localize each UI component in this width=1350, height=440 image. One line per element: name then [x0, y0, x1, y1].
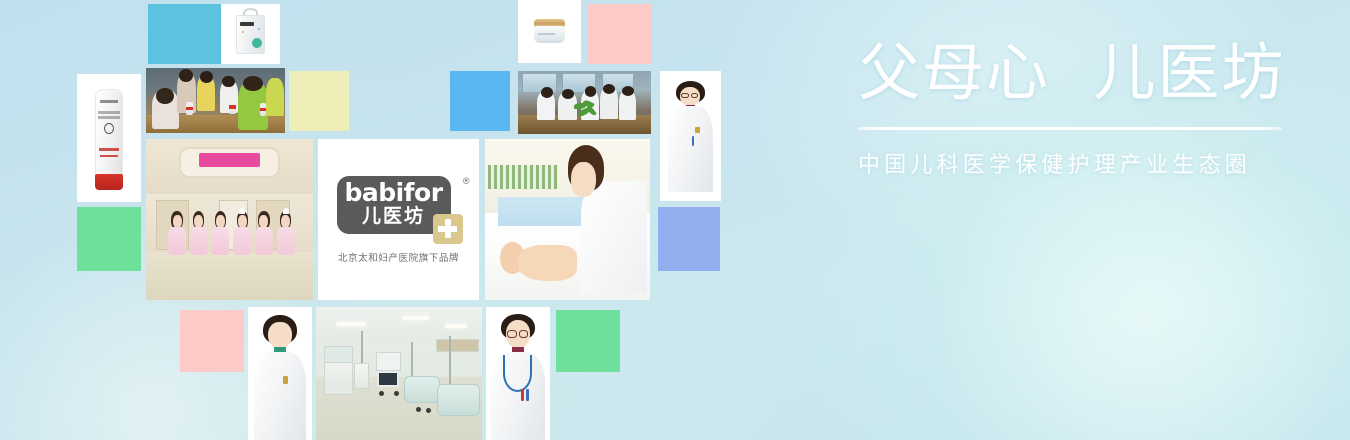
- headline-block: 父母心 儿医坊 中国儿科医学保健护理产业生态圈: [858, 42, 1298, 179]
- photo-baby-bath-care: [485, 139, 650, 300]
- hero-banner: babifor 儿医坊 ® 北京太和妇产医院旗下品牌: [0, 0, 1350, 440]
- photo-nicu-ward: [316, 307, 482, 440]
- logo-tile-babifor: babifor 儿医坊 ® 北京太和妇产医院旗下品牌: [318, 139, 479, 300]
- color-swatch-green-right: [556, 310, 620, 372]
- title-divider: [858, 127, 1282, 130]
- babifor-logo-mark: babifor 儿医坊 ®: [337, 176, 461, 238]
- photo-training-seminar: [146, 68, 285, 133]
- color-swatch-pink-bottom: [180, 310, 244, 372]
- photo-medical-conference: [518, 71, 651, 134]
- color-swatch-green-left: [77, 207, 141, 271]
- logo-english-text: babifor: [344, 179, 444, 206]
- color-swatch-blue: [450, 71, 510, 131]
- logo-chinese-text: 儿医坊: [344, 205, 444, 227]
- color-swatch-periwinkle: [658, 207, 720, 271]
- logo-tagline: 北京太和妇产医院旗下品牌: [338, 250, 459, 264]
- color-swatch-pink-top: [588, 4, 651, 64]
- color-swatch-cyan: [148, 4, 224, 64]
- color-swatch-yellow: [289, 71, 349, 131]
- registered-trademark-icon: ®: [463, 176, 470, 186]
- page-title: 父母心 儿医坊: [858, 42, 1298, 104]
- photo-cream-jar: [518, 0, 581, 63]
- photo-doctor-portrait-1: [248, 307, 312, 440]
- photo-hand-cream: [77, 74, 141, 202]
- photo-nursing-station: [146, 139, 313, 300]
- photo-shopping-bag: [221, 4, 280, 64]
- photo-doctor-standing: [660, 71, 721, 201]
- photo-doctor-portrait-2: [486, 307, 550, 440]
- page-subtitle: 中国儿科医学保健护理产业生态圈: [858, 147, 1298, 179]
